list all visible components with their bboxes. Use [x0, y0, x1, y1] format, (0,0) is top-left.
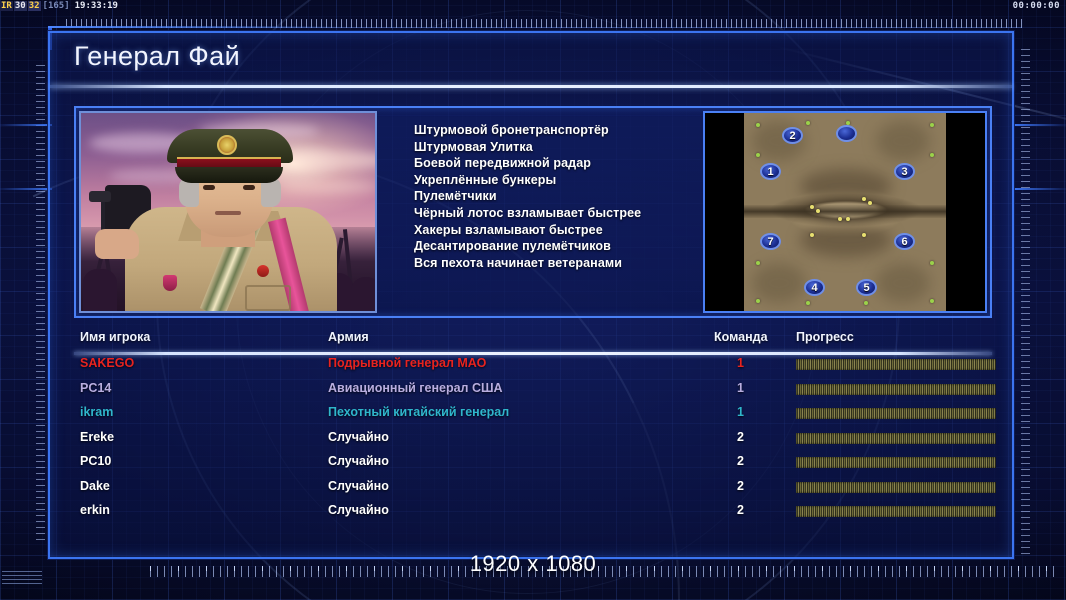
start-position-4[interactable]: 4	[804, 279, 825, 296]
map-preview[interactable]: 2137645	[703, 111, 987, 313]
ability-item: Чёрный лотос взламывает быстрее	[414, 205, 724, 222]
supply-dot-icon	[862, 197, 866, 201]
table-row[interactable]: erkinСлучайно2	[74, 503, 992, 528]
window-title-bar: Генерал Фай	[50, 33, 1012, 85]
player-name: SAKEGO	[80, 356, 134, 370]
player-team: 1	[737, 405, 744, 419]
supply-dot-icon	[868, 201, 872, 205]
player-army: Случайно	[328, 454, 389, 468]
resource-dot-icon	[930, 299, 934, 303]
player-progress-bar	[796, 506, 996, 517]
resource-dot-icon	[756, 153, 760, 157]
table-header-divider	[74, 352, 992, 355]
ability-item: Десантирование пулемётчиков	[414, 238, 724, 255]
resource-dot-icon	[930, 153, 934, 157]
supply-dot-icon	[838, 217, 842, 221]
player-army: Подрывной генерал МАО	[328, 356, 486, 370]
ir-value-3: [165]	[42, 1, 71, 11]
supply-dot-icon	[810, 233, 814, 237]
terrain-blotch	[876, 263, 930, 303]
player-team: 1	[737, 381, 744, 395]
ability-item: Штурмовой бронетранспортёр	[414, 122, 724, 139]
resource-dot-icon	[930, 261, 934, 265]
player-team: 1	[737, 356, 744, 370]
player-army: Авиационный генерал США	[328, 381, 503, 395]
player-name: erkin	[80, 503, 110, 517]
player-progress-bar	[796, 359, 996, 370]
supply-dot-icon	[816, 209, 820, 213]
player-progress-bar	[796, 433, 996, 444]
ability-item: Штурмовая Улитка	[414, 139, 724, 156]
ruler-top	[66, 19, 1022, 28]
player-progress-bar	[796, 482, 996, 493]
ability-item: Вся пехота начинает ветеранами	[414, 255, 724, 272]
player-progress-bar	[796, 457, 996, 468]
table-row[interactable]: ikramПехотный китайский генерал1	[74, 405, 992, 430]
general-abilities-list: Штурмовой бронетранспортёр Штурмовая Ули…	[414, 122, 724, 271]
start-position-2[interactable]: 2	[782, 127, 803, 144]
supply-dot-icon	[810, 205, 814, 209]
player-team: 2	[737, 479, 744, 493]
column-header-team: Команда	[714, 330, 768, 344]
ir-label: IR	[0, 1, 13, 11]
terrain-blotch	[876, 121, 930, 161]
player-team: 2	[737, 430, 744, 444]
frame-top-bar	[48, 26, 348, 28]
player-name: Dake	[80, 479, 110, 493]
player-team: 2	[737, 503, 744, 517]
table-row[interactable]: ErekeСлучайно2	[74, 430, 992, 455]
frame-left-tick-1	[0, 124, 52, 126]
player-name: PC14	[80, 381, 111, 395]
general-info-band: Штурмовой бронетранспортёр Штурмовая Ули…	[74, 106, 992, 318]
frame-right-tick-1	[1014, 124, 1066, 126]
table-row[interactable]: PC10Случайно2	[74, 454, 992, 479]
table-row[interactable]: PC14Авиационный генерал США1	[74, 381, 992, 406]
ability-item: Пулемётчики	[414, 188, 724, 205]
player-army: Пехотный китайский генерал	[328, 405, 509, 419]
start-position-3[interactable]: 3	[894, 163, 915, 180]
start-position-empty[interactable]	[836, 125, 857, 142]
column-header-name: Имя игрока	[80, 330, 150, 344]
ability-item: Укреплённые бункеры	[414, 172, 724, 189]
resource-dot-icon	[756, 123, 760, 127]
ability-item: Хакеры взламывают быстрее	[414, 222, 724, 239]
player-army: Случайно	[328, 503, 389, 517]
match-timer: 00:00:00	[1013, 0, 1060, 13]
general-portrait	[79, 111, 377, 313]
table-row[interactable]: DakeСлучайно2	[74, 479, 992, 504]
page-title: Генерал Фай	[74, 41, 240, 72]
ruler-left	[36, 60, 45, 540]
portrait-border	[79, 111, 377, 313]
start-position-5[interactable]: 5	[856, 279, 877, 296]
ruler-right	[1021, 44, 1030, 554]
title-divider	[50, 85, 1012, 88]
player-progress-bar	[796, 408, 996, 419]
frame-left-tick-2	[0, 188, 52, 190]
supply-dot-icon	[846, 217, 850, 221]
start-position-7[interactable]: 7	[760, 233, 781, 250]
lobby-window: Генерал Фай	[48, 31, 1014, 559]
map-terrain: 2137645	[744, 113, 946, 311]
ir-value-2: 32	[28, 1, 41, 11]
resource-dot-icon	[806, 121, 810, 125]
map-river	[744, 205, 946, 218]
player-name: Ereke	[80, 430, 114, 444]
terrain-blotch	[752, 263, 806, 303]
start-position-6[interactable]: 6	[894, 233, 915, 250]
player-table-header: Имя игрока Армия Команда Прогресс	[74, 330, 992, 352]
resource-dot-icon	[806, 301, 810, 305]
player-army: Случайно	[328, 479, 389, 493]
ability-item: Боевой передвижной радар	[414, 155, 724, 172]
resource-dot-icon	[756, 299, 760, 303]
resource-dot-icon	[864, 301, 868, 305]
column-header-progress: Прогресс	[796, 330, 854, 344]
start-position-1[interactable]: 1	[760, 163, 781, 180]
player-table-body: SAKEGOПодрывной генерал МАО1PC14Авиацион…	[74, 356, 992, 536]
ir-value-1: 30	[14, 1, 27, 11]
resource-dot-icon	[930, 123, 934, 127]
system-clock: 19:33:19	[75, 1, 118, 11]
top-status-bar: IR3032[165]19:33:19	[0, 0, 1066, 13]
player-team: 2	[737, 454, 744, 468]
column-header-army: Армия	[328, 330, 369, 344]
player-name: PC10	[80, 454, 111, 468]
supply-dot-icon	[862, 233, 866, 237]
resource-dot-icon	[756, 261, 760, 265]
resolution-watermark: 1920 x 1080	[0, 551, 1066, 577]
frame-right-tick-2	[1014, 188, 1066, 190]
player-progress-bar	[796, 384, 996, 395]
table-row[interactable]: SAKEGOПодрывной генерал МАО1	[74, 356, 992, 381]
player-name: ikram	[80, 405, 113, 419]
player-army: Случайно	[328, 430, 389, 444]
